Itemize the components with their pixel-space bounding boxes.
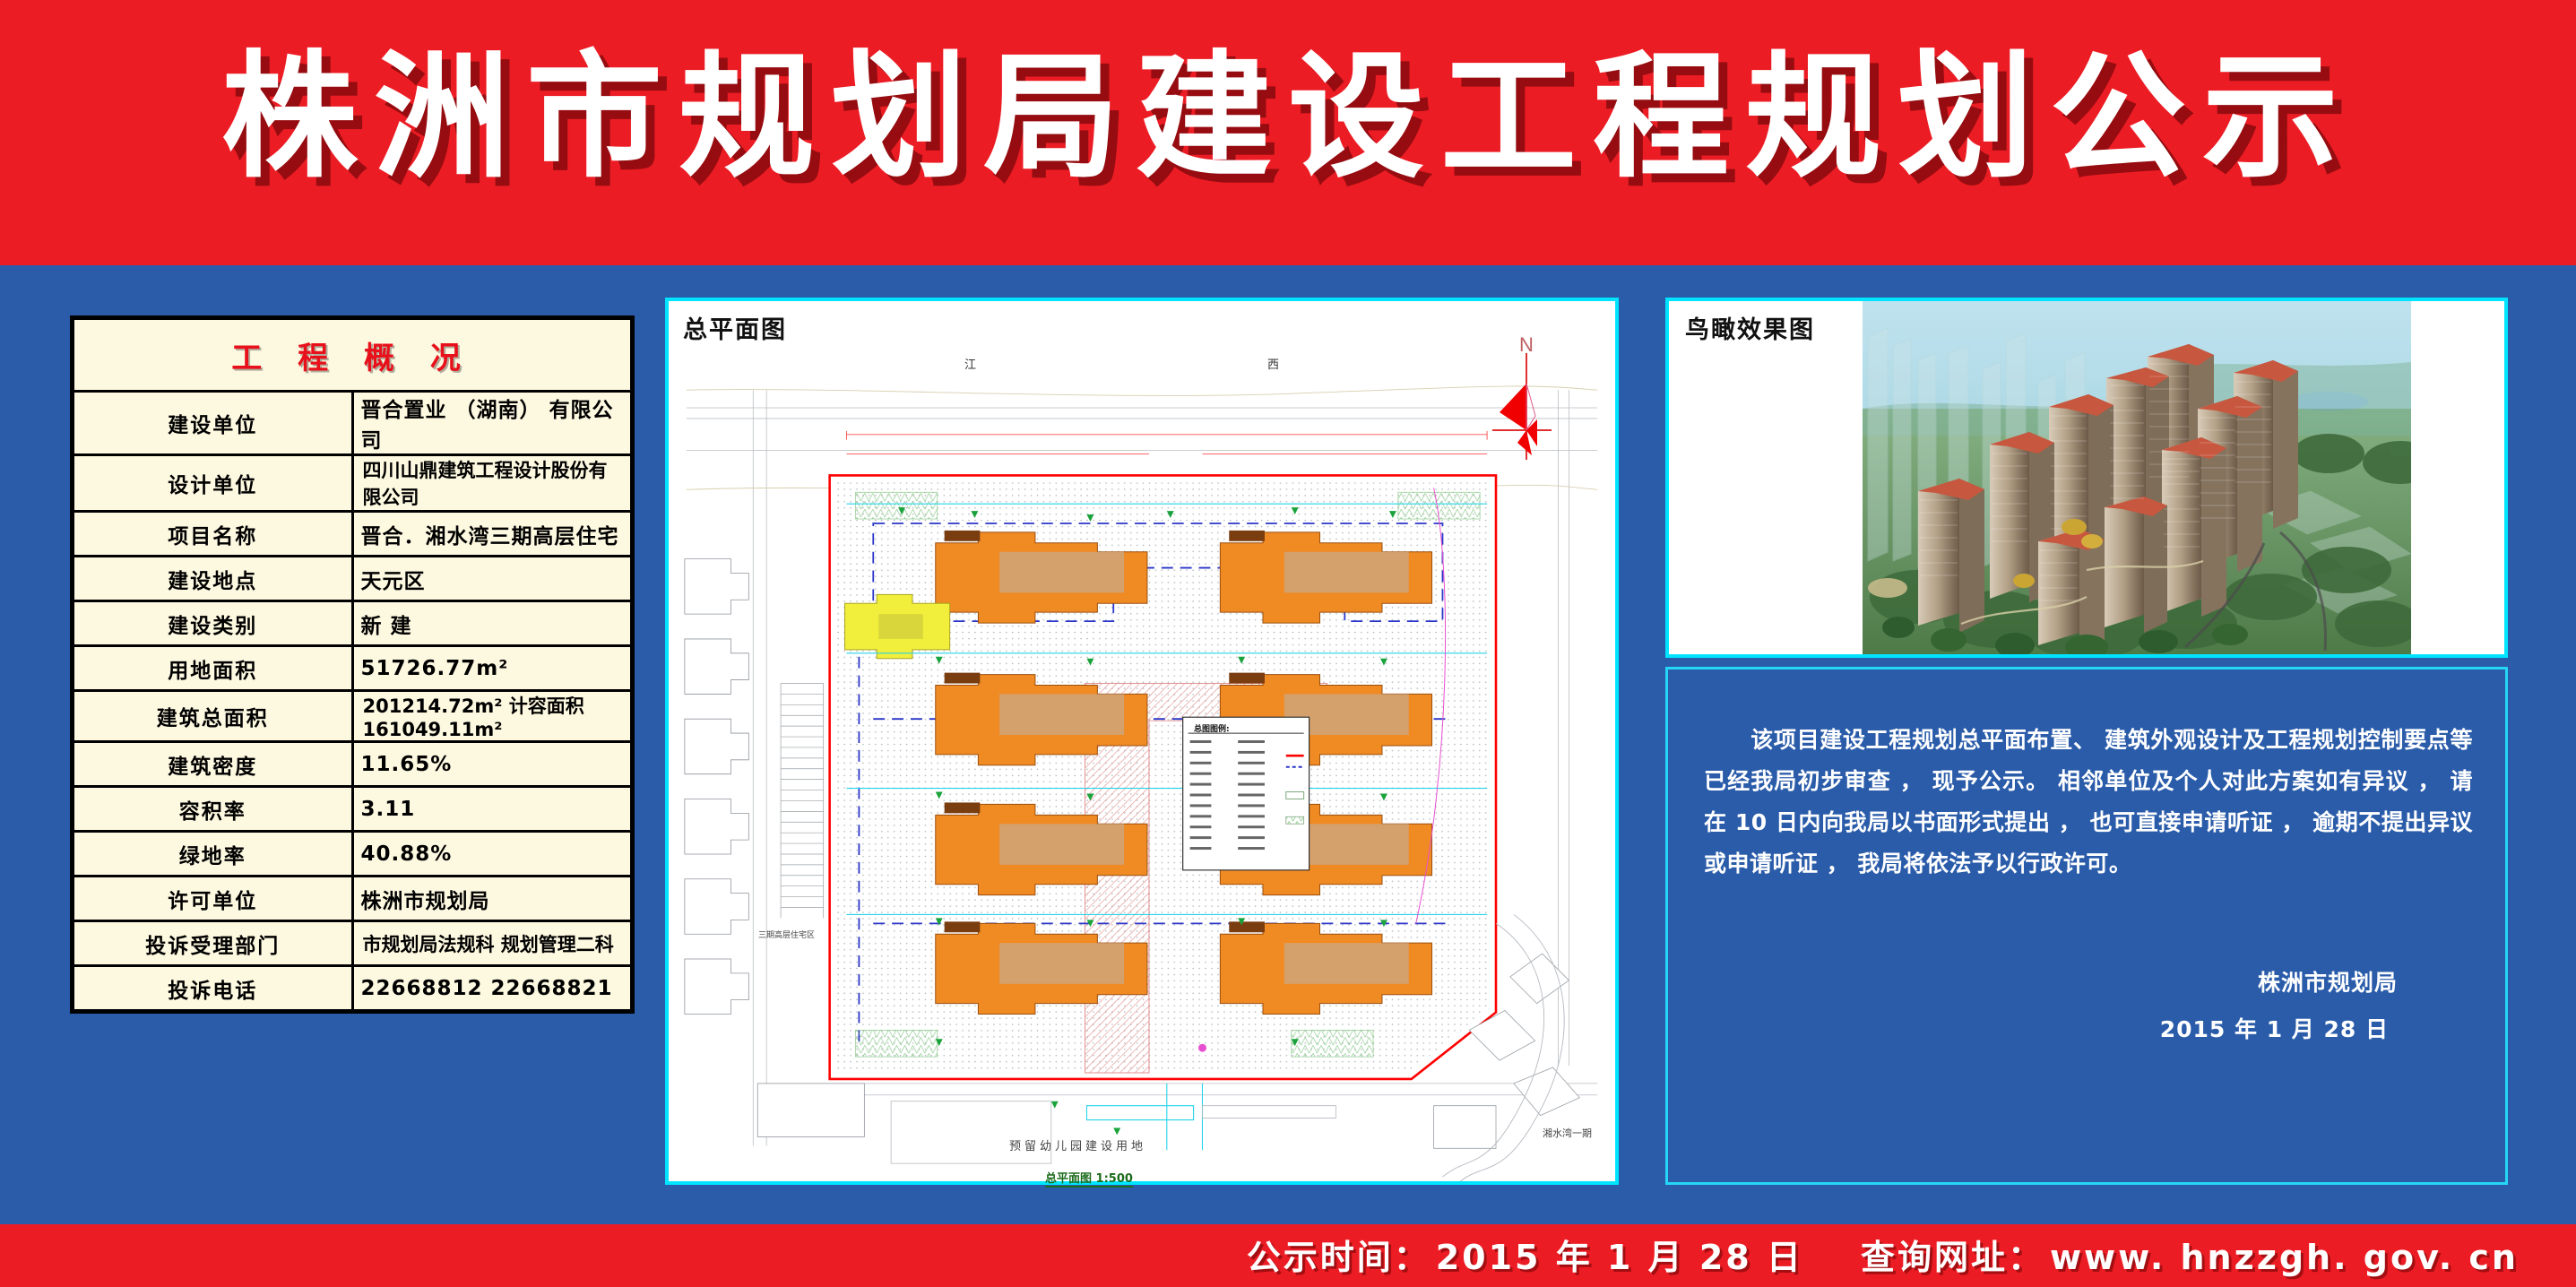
row-label: 绿地率 — [73, 832, 353, 877]
row-value: 市规划局法规科 规划管理二科 — [352, 921, 633, 966]
table-row: 建筑密度 11.65% — [73, 742, 633, 787]
row-label: 投诉受理部门 — [73, 921, 353, 966]
map-label-kindergarten: 预留幼儿园建设用地 — [1009, 1136, 1146, 1153]
query-site-url: www. hnzzgh. gov. cn — [2050, 1238, 2519, 1277]
row-value: 株洲市规划局 — [352, 877, 633, 921]
map-label-west: 江 — [964, 355, 976, 372]
table-row: 用地面积 51726.77m² — [73, 646, 633, 691]
row-value: 天元区 — [352, 557, 633, 601]
query-site-label: 查询网址： — [1861, 1238, 2044, 1277]
table-row: 容积率 3.11 — [73, 787, 633, 832]
site-plan-legend — [1183, 717, 1310, 870]
page-title: 株洲市规划局建设工程规划公示 — [0, 23, 2576, 212]
row-label: 建筑密度 — [73, 742, 353, 787]
row-value: 晋合．湘水湾三期高层住宅 — [352, 512, 633, 557]
table-row: 建设地点 天元区 — [73, 557, 633, 601]
row-value: 四川山鼎建筑工程设计股份有限公司 — [352, 455, 633, 512]
bottom-plots — [891, 1101, 1336, 1163]
site-plan-panel: 总平面图 — [665, 298, 1619, 1185]
north-letter: N — [1519, 333, 1534, 356]
footer-content: 公示时间：2015 年 1 月 28 日查询网址：www. hnzzgh. go… — [1247, 1230, 2524, 1279]
row-label: 建设类别 — [73, 601, 353, 646]
row-label: 用地面积 — [73, 646, 353, 691]
table-row: 建设类别 新 建 — [73, 601, 633, 646]
table-row: 投诉电话 22668812 22668821 — [73, 966, 633, 1012]
row-value: 3.11 — [352, 787, 633, 832]
row-label: 投诉电话 — [73, 966, 353, 1012]
table-row: 许可单位 株洲市规划局 — [73, 877, 633, 921]
notice-signature: 株洲市规划局 — [2258, 965, 2398, 998]
aerial-render-image — [1863, 301, 2411, 654]
table-row: 设计单位 四川山鼎建筑工程设计股份有限公司 — [73, 455, 633, 512]
footer-bar: 公示时间：2015 年 1 月 28 日查询网址：www. hnzzgh. go… — [0, 1224, 2576, 1287]
row-label: 建设单位 — [73, 392, 353, 455]
row-label: 项目名称 — [73, 512, 353, 557]
existing-yellow-building — [845, 594, 950, 658]
publish-time-label: 公示时间： — [1247, 1238, 1431, 1277]
project-summary-panel: 工 程 概 况 建设单位 晋合置业 （湖南） 有限公司 设计单位 四川山鼎建筑工… — [70, 315, 635, 1014]
publish-date-value: 2015 年 1 月 28 日 — [1436, 1238, 1803, 1277]
table-title-text: 工 程 概 况 — [231, 341, 473, 376]
table-row: 建设单位 晋合置业 （湖南） 有限公司 — [73, 392, 633, 455]
row-value: 11.65% — [352, 742, 633, 787]
map-label-existing-block: 三期高层住宅区 — [758, 929, 815, 940]
parking-rows-left — [781, 684, 824, 919]
map-label-east: 西 — [1267, 355, 1279, 372]
row-value: 201214.72m² 计容面积 161049.11m² — [352, 691, 633, 742]
aerial-render-panel: 鸟瞰效果图 — [1665, 298, 2508, 658]
row-label: 设计单位 — [73, 455, 353, 512]
map-scale-label: 总平面图 1:500 — [1045, 1169, 1133, 1188]
table-row: 投诉受理部门 市规划局法规科 规划管理二科 — [73, 921, 633, 966]
row-value: 晋合置业 （湖南） 有限公司 — [352, 392, 633, 455]
row-value: 22668812 22668821 — [352, 966, 633, 1012]
table-row: 项目名称 晋合．湘水湾三期高层住宅 — [73, 512, 633, 557]
notice-paragraph-text: 该项目建设工程规划总平面布置、 建筑外观设计及工程规划控制要点等已经我局初步审查… — [1704, 727, 2473, 877]
row-value: 40.88% — [352, 832, 633, 877]
row-value: 新 建 — [352, 601, 633, 646]
header-banner: 株洲市规划局建设工程规划公示 — [0, 0, 2576, 265]
project-summary-table: 工 程 概 况 建设单位 晋合置业 （湖南） 有限公司 设计单位 四川山鼎建筑工… — [70, 315, 635, 1014]
planning-notice-poster: 株洲市规划局建设工程规划公示 工 程 概 况 建设单位 晋合置业 （湖南） 有限… — [0, 0, 2576, 1287]
row-value: 51726.77m² — [352, 646, 633, 691]
row-label: 建筑总面积 — [73, 691, 353, 742]
map-label-phase-one: 湘水湾一期 — [1543, 1126, 1592, 1140]
row-label: 建设地点 — [73, 557, 353, 601]
table-row: 绿地率 40.88% — [73, 832, 633, 877]
aerial-render-label: 鸟瞰效果图 — [1685, 310, 1815, 345]
row-label: 容积率 — [73, 787, 353, 832]
table-title-row: 工 程 概 况 — [73, 318, 633, 392]
legend-title: 总图图例: — [1194, 722, 1230, 734]
notice-paragraph: 该项目建设工程规划总平面布置、 建筑外观设计及工程规划控制要点等已经我局初步审查… — [1704, 720, 2473, 885]
north-arrow-icon: N — [1487, 330, 1557, 464]
table-title-cell: 工 程 概 况 — [73, 318, 633, 392]
site-plan-drawing — [669, 301, 1615, 1181]
notice-panel: 该项目建设工程规划总平面布置、 建筑外观设计及工程规划控制要点等已经我局初步审查… — [1665, 667, 2508, 1185]
notice-date: 2015 年 1 月 28 日 — [2160, 1012, 2389, 1044]
table-row: 建筑总面积 201214.72m² 计容面积 161049.11m² — [73, 691, 633, 742]
row-label: 许可单位 — [73, 877, 353, 921]
